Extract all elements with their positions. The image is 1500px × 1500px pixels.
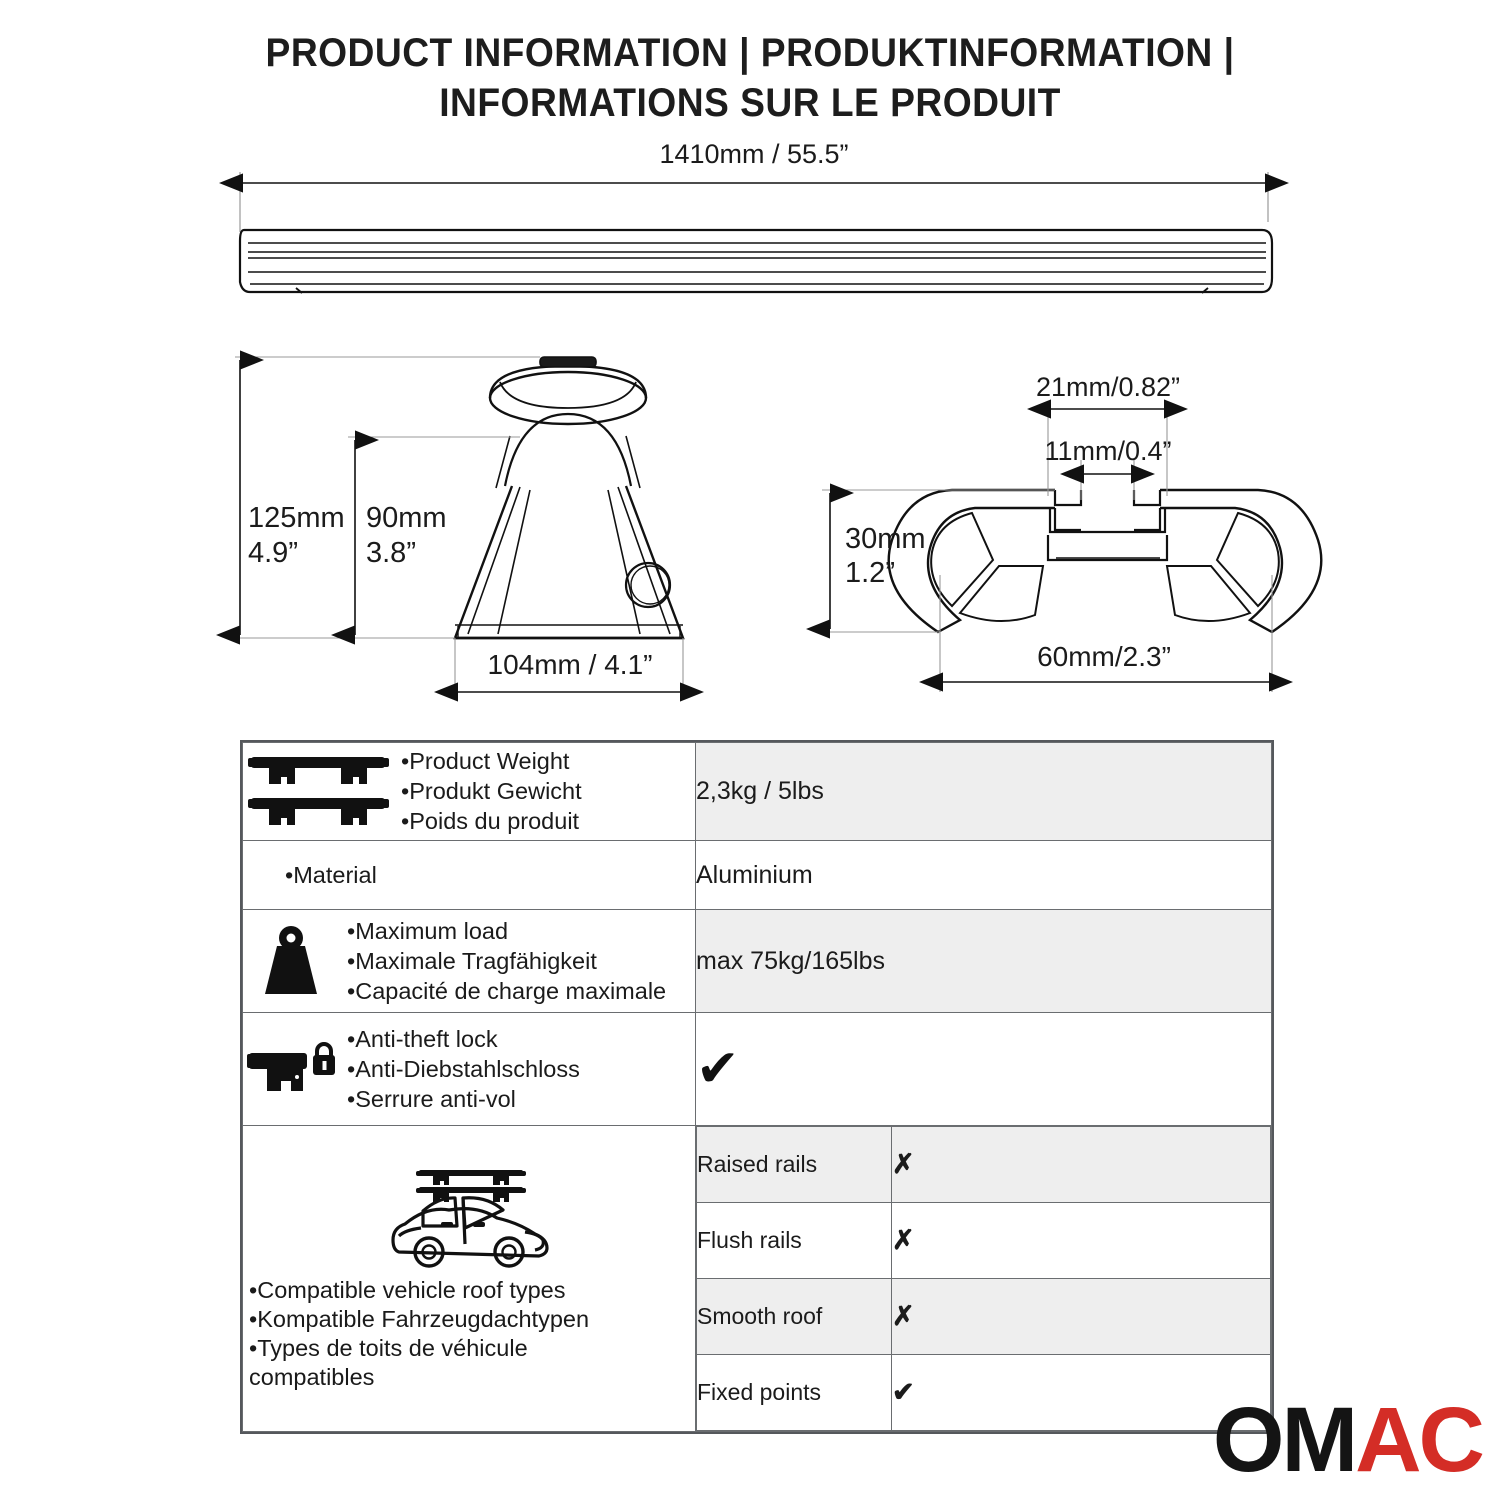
roof-type-row: Raised rails ✗ xyxy=(697,1127,1271,1203)
bullet-line: •Maximum load xyxy=(347,917,695,946)
height-125-line1: 125mm xyxy=(248,502,345,534)
compat-bullets: •Compatible vehicle roof types •Kompatib… xyxy=(243,1276,695,1392)
lock-label-cell: •Anti-theft lock •Anti-Diebstahlschloss … xyxy=(243,1013,696,1126)
bullet-line: •Anti-Diebstahlschloss xyxy=(347,1055,695,1084)
channel-inner-dimension xyxy=(1081,460,1134,500)
bullet-line: •Anti-theft lock xyxy=(347,1025,695,1054)
bullet-line: •Produkt Gewicht xyxy=(401,777,695,806)
material-label-cell: •Material xyxy=(243,841,696,910)
material-value: Aluminium xyxy=(696,841,1272,910)
bar-width-dimension xyxy=(940,575,1272,692)
logo-text-ac: AC xyxy=(1355,1389,1482,1491)
bullet-line: •Compatible vehicle roof types xyxy=(249,1276,695,1305)
table-row: •Anti-theft lock •Anti-Diebstahlschloss … xyxy=(243,1013,1272,1126)
table-row: •Material Aluminium xyxy=(243,841,1272,910)
width-60-label: 60mm/2.3” xyxy=(1037,641,1171,672)
logo-text-om: OM xyxy=(1213,1389,1355,1491)
height-90-line1: 90mm xyxy=(366,502,447,534)
roof-type-label: Smooth roof xyxy=(697,1279,892,1355)
weight-icon xyxy=(243,924,339,998)
height-30-line1: 30mm xyxy=(845,523,926,555)
compat-label-cell: •Compatible vehicle roof types •Kompatib… xyxy=(243,1126,696,1432)
maxload-value: max 75kg/165lbs xyxy=(696,910,1272,1013)
width-104-label: 104mm / 4.1” xyxy=(488,649,653,680)
weight-value: 2,3kg / 5lbs xyxy=(696,743,1272,841)
channel-11mm-label: 11mm/0.4” xyxy=(1044,436,1171,466)
bullet-line: •Maximale Tragfähigkeit xyxy=(347,947,695,976)
roof-type-mark: ✗ xyxy=(892,1279,1271,1355)
channel-21mm-label: 21mm/0.82” xyxy=(1036,372,1180,402)
roof-type-label: Raised rails xyxy=(697,1127,892,1203)
material-bullets: •Material xyxy=(243,860,695,891)
roof-type-label: Fixed points xyxy=(697,1355,892,1431)
table-row: •Product Weight •Produkt Gewicht •Poids … xyxy=(243,743,1272,841)
technical-drawings: 1410mm / 55.5” 125mm xyxy=(0,0,1500,740)
bullet-line: •Types de toits de véhicule xyxy=(249,1334,695,1363)
foot-front-view xyxy=(455,357,683,638)
roof-type-row: Flush rails ✗ xyxy=(697,1203,1271,1279)
crossbar-side-view xyxy=(240,230,1272,293)
lock-bullets: •Anti-theft lock •Anti-Diebstahlschloss … xyxy=(347,1024,695,1115)
specification-table: •Product Weight •Produkt Gewicht •Poids … xyxy=(240,740,1274,1434)
maxload-label-cell: •Maximum load •Maximale Tragfähigkeit •C… xyxy=(243,910,696,1013)
check-icon: ✔ xyxy=(696,1040,740,1098)
crossbars-icon xyxy=(243,751,393,833)
roof-type-row: Smooth roof ✗ xyxy=(697,1279,1271,1355)
roof-type-label: Flush rails xyxy=(697,1203,892,1279)
foot-total-height-dimension xyxy=(235,357,540,638)
bullet-line: •Material xyxy=(285,861,695,890)
weight-label-cell: •Product Weight •Produkt Gewicht •Poids … xyxy=(243,743,696,841)
roof-type-mark: ✗ xyxy=(892,1203,1271,1279)
bullet-line: •Kompatible Fahrzeugdachtypen xyxy=(249,1305,695,1334)
lock-icon xyxy=(243,1035,339,1103)
lock-value: ✔ xyxy=(696,1013,1272,1126)
bullet-line: compatibles xyxy=(249,1363,695,1392)
bullet-line: •Poids du produit xyxy=(401,807,695,836)
table-row: •Maximum load •Maximale Tragfähigkeit •C… xyxy=(243,910,1272,1013)
height-125-line2: 4.9” xyxy=(248,537,298,569)
bar-length-dimension xyxy=(240,172,1268,232)
omac-logo: OMAC xyxy=(1213,1394,1482,1486)
drawings-svg: 1410mm / 55.5” 125mm xyxy=(0,0,1500,740)
weight-bullets: •Product Weight •Produkt Gewicht •Poids … xyxy=(401,746,695,837)
table-row: •Compatible vehicle roof types •Kompatib… xyxy=(243,1126,1272,1432)
roof-types-table: Raised rails ✗ Flush rails ✗ Smooth roof… xyxy=(696,1126,1271,1431)
car-with-rack-icon xyxy=(243,1166,695,1270)
bullet-line: •Product Weight xyxy=(401,747,695,776)
maxload-bullets: •Maximum load •Maximale Tragfähigkeit •C… xyxy=(347,916,695,1007)
height-90-line2: 3.8” xyxy=(366,537,416,569)
roof-type-mark: ✗ xyxy=(892,1127,1271,1203)
bullet-line: •Capacité de charge maximale xyxy=(347,977,695,1006)
height-30-line2: 1.2” xyxy=(845,557,895,589)
roof-types-cell: Raised rails ✗ Flush rails ✗ Smooth roof… xyxy=(696,1126,1272,1432)
length-label: 1410mm / 55.5” xyxy=(659,139,848,169)
bar-cross-section xyxy=(889,490,1322,632)
bullet-line: •Serrure anti-vol xyxy=(347,1085,695,1114)
roof-type-row: Fixed points ✔ xyxy=(697,1355,1271,1431)
